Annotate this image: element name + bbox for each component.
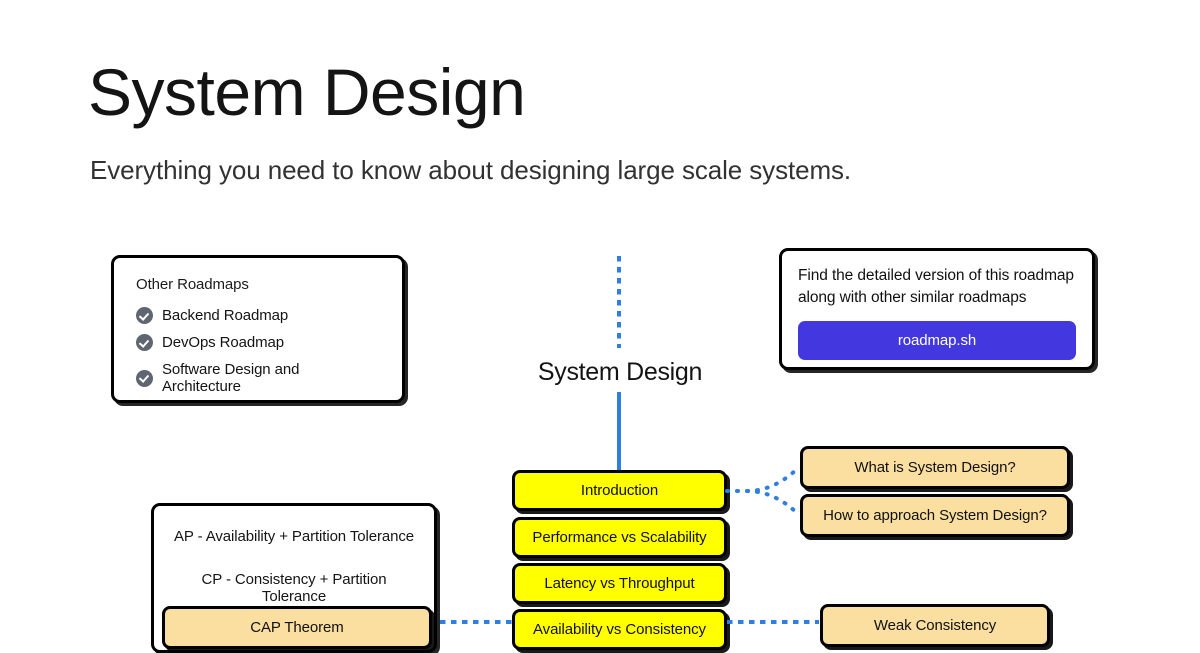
other-roadmaps-title: Other Roadmaps (136, 276, 380, 293)
node-introduction[interactable]: Introduction (512, 470, 727, 511)
list-item[interactable]: DevOps Roadmap (136, 334, 380, 351)
node-how-to-approach-system-design[interactable]: How to approach System Design? (800, 494, 1070, 537)
list-item[interactable]: Software Design and Architecture (136, 361, 380, 395)
roadmap-promo-panel: Find the detailed version of this roadma… (779, 248, 1095, 370)
page-subtitle: Everything you need to know about design… (90, 155, 851, 186)
node-weak-consistency[interactable]: Weak Consistency (820, 604, 1050, 647)
branch-lower (747, 491, 799, 515)
promo-text-line-2: along with other similar roadmaps (798, 287, 1076, 309)
connector-availability-to-weak-consistency (727, 620, 819, 624)
other-roadmaps-panel: Other Roadmaps Backend Roadmap DevOps Ro… (111, 255, 405, 403)
node-performance-vs-scalability[interactable]: Performance vs Scalability (512, 517, 727, 558)
check-circle-icon (136, 370, 153, 387)
connector-cap-to-availability (440, 620, 512, 624)
roadmap-link-label: Backend Roadmap (162, 307, 288, 324)
roadmap-link-label: DevOps Roadmap (162, 334, 284, 351)
node-latency-vs-throughput[interactable]: Latency vs Throughput (512, 563, 727, 604)
node-cap-theorem[interactable]: CAP Theorem (162, 606, 432, 649)
node-what-is-system-design[interactable]: What is System Design? (800, 446, 1070, 489)
check-circle-icon (136, 307, 153, 324)
branch-upper (747, 467, 799, 491)
roadmap-link-label: Software Design and Architecture (162, 361, 380, 395)
roadmap-root-label: System Design (500, 358, 740, 387)
cap-theorem-panel: AP - Availability + Partition Tolerance … (151, 503, 437, 653)
connector-dotted-above-root (617, 256, 621, 348)
check-circle-icon (136, 334, 153, 351)
cap-line-cp: CP - Consistency + Partition Tolerance (174, 571, 414, 605)
roadmap-sh-button[interactable]: roadmap.sh (798, 321, 1076, 360)
page-title: System Design (88, 58, 525, 127)
connector-root-to-introduction (617, 392, 621, 472)
cap-line-ap: AP - Availability + Partition Tolerance (174, 528, 414, 545)
connector-introduction-branch (727, 443, 803, 539)
promo-text-line-1: Find the detailed version of this roadma… (798, 265, 1076, 287)
list-item[interactable]: Backend Roadmap (136, 307, 380, 324)
